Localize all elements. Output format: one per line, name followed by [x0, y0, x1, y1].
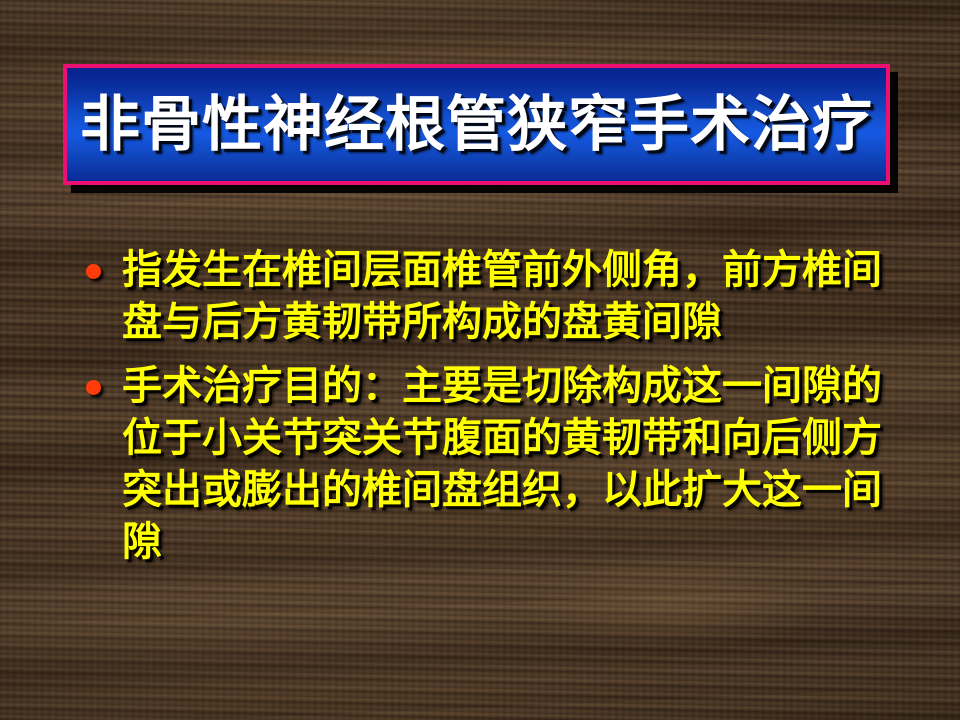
list-item-text: 手术治疗目的：主要是切除构成这一间隙的位于小关节突关节腹面的黄韧带和向后侧方突出… [122, 360, 886, 568]
list-item: 手术治疗目的：主要是切除构成这一间隙的位于小关节突关节腹面的黄韧带和向后侧方突出… [74, 360, 886, 568]
slide-title-box: 非骨性神经根管狭窄手术治疗 [63, 64, 890, 185]
slide-title-text: 非骨性神经根管狭窄手术治疗 [80, 95, 873, 155]
list-item-text: 指发生在椎间层面椎管前外侧角，前方椎间盘与后方黄韧带所构成的盘黄间隙 [122, 244, 886, 348]
round-bullet-icon [86, 264, 101, 279]
slide-body: 指发生在椎间层面椎管前外侧角，前方椎间盘与后方黄韧带所构成的盘黄间隙 手术治疗目… [74, 244, 886, 568]
presentation-slide: 非骨性神经根管狭窄手术治疗 指发生在椎间层面椎管前外侧角，前方椎间盘与后方黄韧带… [0, 0, 960, 720]
list-item: 指发生在椎间层面椎管前外侧角，前方椎间盘与后方黄韧带所构成的盘黄间隙 [74, 244, 886, 348]
round-bullet-icon [86, 380, 101, 395]
